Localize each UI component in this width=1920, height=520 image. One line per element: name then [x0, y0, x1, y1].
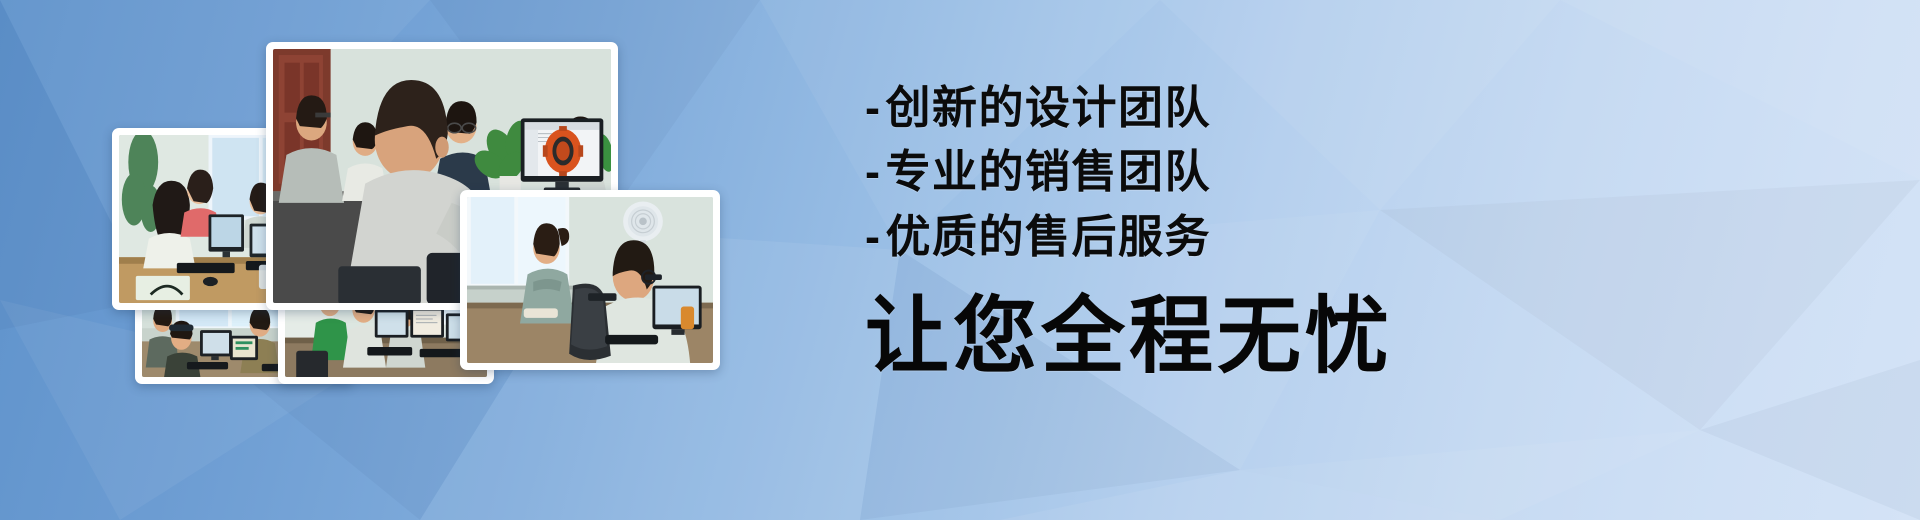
banner-text-block: -创新的设计团队 -专业的销售团队 -优质的售后服务 让您全程无忧 [860, 0, 1920, 520]
photo-frame-inner [467, 197, 713, 363]
feature-bullet-label: 优质的售后服务 [886, 211, 1212, 262]
feature-bullet-list: -创新的设计团队 -专业的销售团队 -优质的售后服务 [865, 76, 1211, 269]
feature-bullet-label: 专业的销售团队 [886, 146, 1212, 197]
bullet-dash-icon: - [865, 205, 882, 269]
feature-bullet-label: 创新的设计团队 [886, 82, 1212, 133]
promo-banner: -创新的设计团队 -专业的销售团队 -优质的售后服务 让您全程无忧 [0, 0, 1920, 520]
banner-headline: 让您全程无忧 [865, 292, 1393, 380]
photo-collage [0, 0, 760, 520]
collage-photo-support-staff-desk [460, 190, 720, 370]
feature-bullet-item: -专业的销售团队 [865, 140, 1211, 204]
bullet-dash-icon: - [865, 76, 882, 140]
photo-art-support-staff [467, 197, 713, 363]
bullet-dash-icon: - [865, 140, 882, 204]
feature-bullet-item: -优质的售后服务 [865, 205, 1211, 269]
feature-bullet-item: -创新的设计团队 [865, 76, 1211, 140]
